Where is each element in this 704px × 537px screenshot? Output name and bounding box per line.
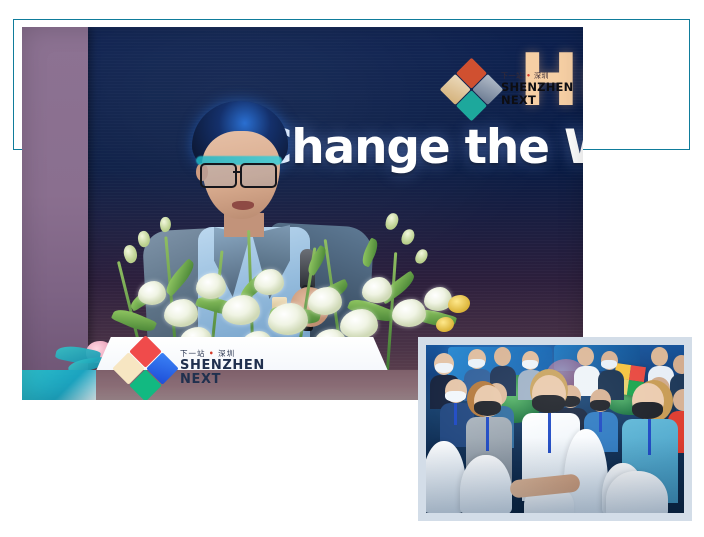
inset-photo-frame <box>418 337 692 521</box>
lectern-logo-line2: NEXT <box>180 373 265 387</box>
audience-person-leg <box>510 477 580 511</box>
stage-floor-teal-accent <box>22 370 96 400</box>
tagline-post: 深圳 <box>218 349 235 358</box>
tagline-post: 深圳 <box>534 72 549 80</box>
lectern-logo-line1: SHENZHEN <box>180 359 265 373</box>
speaker-glasses <box>200 163 282 185</box>
screen-shenzhen-next-logo: 下一站 • 深圳 SHENZHEN NEXT <box>449 67 573 112</box>
lectern-logo-wordmark: 下一站 • 深圳 SHENZHEN NEXT <box>180 350 265 386</box>
screen-logo-line2: NEXT <box>501 94 573 106</box>
screen-logo-wordmark: 下一站 • 深圳 SHENZHEN NEXT <box>501 73 573 106</box>
screen-logo-chinese-tagline: 下一站 • 深圳 <box>501 73 573 80</box>
inset-photo-audience <box>426 345 684 513</box>
tagline-pre: 下一站 <box>180 349 206 358</box>
tagline-dot: • <box>209 349 215 358</box>
diamond-logo-icon <box>440 58 504 122</box>
tagline-dot: • <box>526 72 531 80</box>
screen-logo-line1: SHENZHEN <box>501 81 573 93</box>
tagline-pre: 下一站 <box>501 72 524 80</box>
diamond-logo-icon <box>112 335 178 400</box>
lectern-shenzhen-next-logo: 下一站 • 深圳 SHENZHEN NEXT <box>122 345 265 392</box>
lectern-logo-chinese-tagline: 下一站 • 深圳 <box>180 350 265 358</box>
